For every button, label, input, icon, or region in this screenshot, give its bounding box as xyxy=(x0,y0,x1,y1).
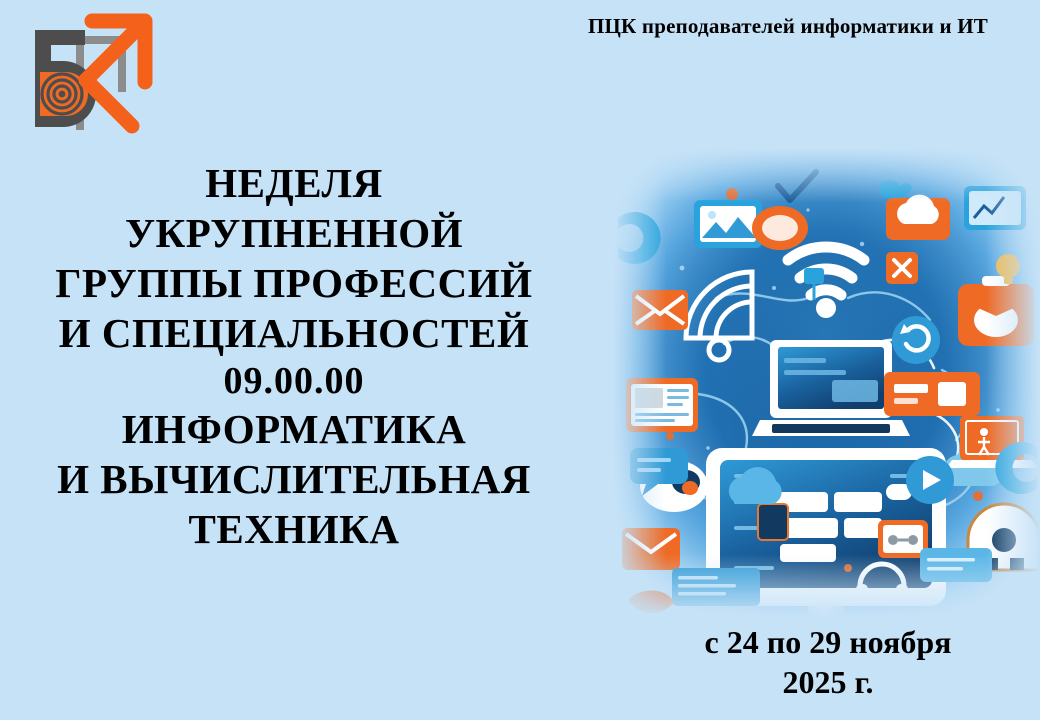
close-icon xyxy=(886,252,918,284)
title-line-7: И ВЫЧИСЛИТЕЛЬНАЯ xyxy=(0,454,588,504)
event-dates-line-1: с 24 по 29 ноября xyxy=(620,622,1036,662)
collage-body xyxy=(612,148,1040,618)
title-line-2: УКРУПНЕННОЙ xyxy=(0,208,588,258)
page-title: НЕДЕЛЯ УКРУПНЕННОЙ ГРУППЫ ПРОФЕССИЙ И СП… xyxy=(0,158,588,554)
title-line-6: ИНФОРМАТИКА xyxy=(0,404,588,454)
event-dates: с 24 по 29 ноября 2025 г. xyxy=(620,622,1036,702)
title-line-8: ТЕХНИКА xyxy=(0,504,588,554)
folder-image-icon xyxy=(694,200,762,248)
bk-college-logo xyxy=(14,6,164,138)
title-line-3: ГРУППЫ ПРОФЕССИЙ xyxy=(0,258,588,308)
refresh-icon xyxy=(892,316,940,364)
title-line-code: 09.00.00 xyxy=(0,358,588,404)
title-line-1: НЕДЕЛЯ xyxy=(0,158,588,208)
photo-frame-icon xyxy=(752,206,808,250)
play-button-icon xyxy=(906,456,954,504)
wifi-icon-dot xyxy=(816,298,836,318)
event-dates-line-2: 2025 г. xyxy=(620,662,1036,702)
poster-canvas: ПЦК преподавателей информатики и ИТ НЕДЕ… xyxy=(0,0,1040,720)
title-line-4: И СПЕЦИАЛЬНОСТЕЙ xyxy=(0,308,588,358)
page-header-title: ПЦК преподавателей информатики и ИТ xyxy=(540,14,1036,38)
information-technology-collage xyxy=(612,148,1040,618)
code-card-icon xyxy=(884,372,980,416)
